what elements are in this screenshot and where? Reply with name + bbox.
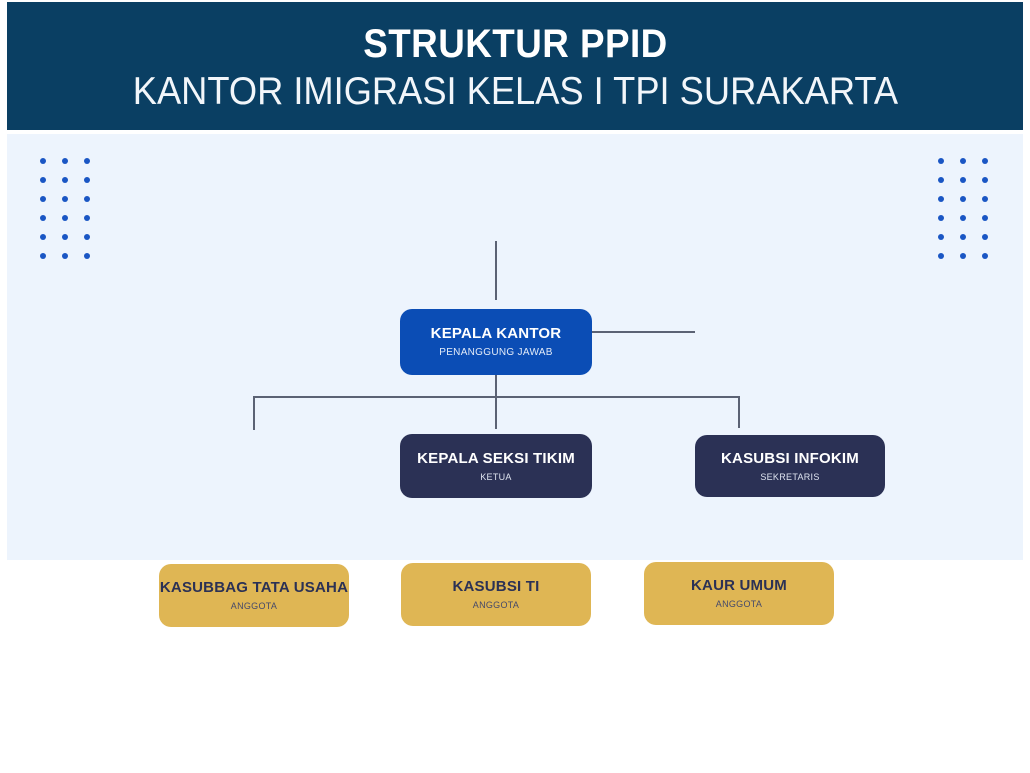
connector-bus-to-kasubsi-ti (495, 396, 497, 429)
dot-icon (84, 253, 90, 259)
org-node-kasubsi-infokim[interactable]: KASUBSI INFOKIM SEKRETARIS (695, 435, 885, 497)
dot-icon (84, 158, 90, 164)
org-node-seksi-tikim[interactable]: KEPALA SEKSI TIKIM KETUA (400, 434, 592, 498)
page-subtitle: KANTOR IMIGRASI KELAS I TPI SURAKARTA (132, 71, 897, 114)
dot-icon (84, 234, 90, 240)
dot-icon (84, 177, 90, 183)
org-node-title: KASUBSI INFOKIM (721, 450, 859, 467)
connector-bus-to-tata-usaha (253, 396, 255, 430)
org-node-role: PENANGGUNG JAWAB (439, 347, 553, 359)
dot-icon (982, 177, 988, 183)
dot-icon (40, 253, 46, 259)
org-node-role: ANGGOTA (473, 600, 519, 610)
dot-icon (62, 215, 68, 221)
dot-icon (938, 196, 944, 202)
dot-icon (960, 158, 966, 164)
dot-icon (62, 196, 68, 202)
dot-icon (960, 196, 966, 202)
dot-icon (938, 234, 944, 240)
dot-icon (960, 234, 966, 240)
header-banner: STRUKTUR PPID KANTOR IMIGRASI KELAS I TP… (7, 2, 1023, 130)
org-node-title: KASUBSI TI (452, 578, 539, 595)
org-node-title: KEPALA SEKSI TIKIM (417, 450, 575, 467)
dot-icon (62, 253, 68, 259)
org-node-role: KETUA (480, 472, 512, 482)
dot-icon (938, 158, 944, 164)
dot-icon (40, 234, 46, 240)
decorative-dots-left (40, 158, 92, 261)
dot-icon (982, 253, 988, 259)
org-node-kasubsi-ti[interactable]: KASUBSI TI ANGGOTA (401, 563, 591, 626)
dot-icon (960, 215, 966, 221)
dot-icon (62, 177, 68, 183)
org-node-kasubbag-tata-usaha[interactable]: KASUBBAG TATA USAHA ANGGOTA (159, 564, 349, 627)
org-node-kepala-kantor[interactable]: KEPALA KANTOR PENANGGUNG JAWAB (400, 309, 592, 375)
dot-icon (62, 234, 68, 240)
dot-icon (982, 234, 988, 240)
dot-icon (62, 158, 68, 164)
org-node-role: ANGGOTA (716, 599, 762, 609)
dot-icon (84, 215, 90, 221)
dot-icon (982, 196, 988, 202)
org-chart-slide: STRUKTUR PPID KANTOR IMIGRASI KELAS I TP… (0, 0, 1030, 773)
dot-icon (40, 158, 46, 164)
org-node-role: ANGGOTA (231, 601, 277, 611)
chart-canvas: KEPALA KANTOR PENANGGUNG JAWAB KEPALA SE… (7, 134, 1023, 560)
dot-icon (960, 253, 966, 259)
connector-bus-to-kaur-umum (738, 396, 740, 428)
page-title: STRUKTUR PPID (363, 23, 667, 65)
org-node-kaur-umum[interactable]: KAUR UMUM ANGGOTA (644, 562, 834, 625)
connector-kepala-to-tikim (495, 241, 497, 300)
dot-icon (40, 196, 46, 202)
org-node-title: KAUR UMUM (691, 577, 787, 594)
org-node-title: KEPALA KANTOR (431, 325, 562, 342)
dot-icon (40, 177, 46, 183)
dot-icon (938, 177, 944, 183)
org-node-role: SEKRETARIS (760, 472, 819, 482)
decorative-dots-right (938, 158, 990, 261)
dot-icon (84, 196, 90, 202)
org-node-title: KASUBBAG TATA USAHA (160, 579, 348, 596)
dot-icon (40, 215, 46, 221)
dot-icon (938, 215, 944, 221)
connector-tikim-to-infokim (592, 331, 695, 333)
dot-icon (982, 158, 988, 164)
dot-icon (982, 215, 988, 221)
dot-icon (960, 177, 966, 183)
dot-icon (938, 253, 944, 259)
